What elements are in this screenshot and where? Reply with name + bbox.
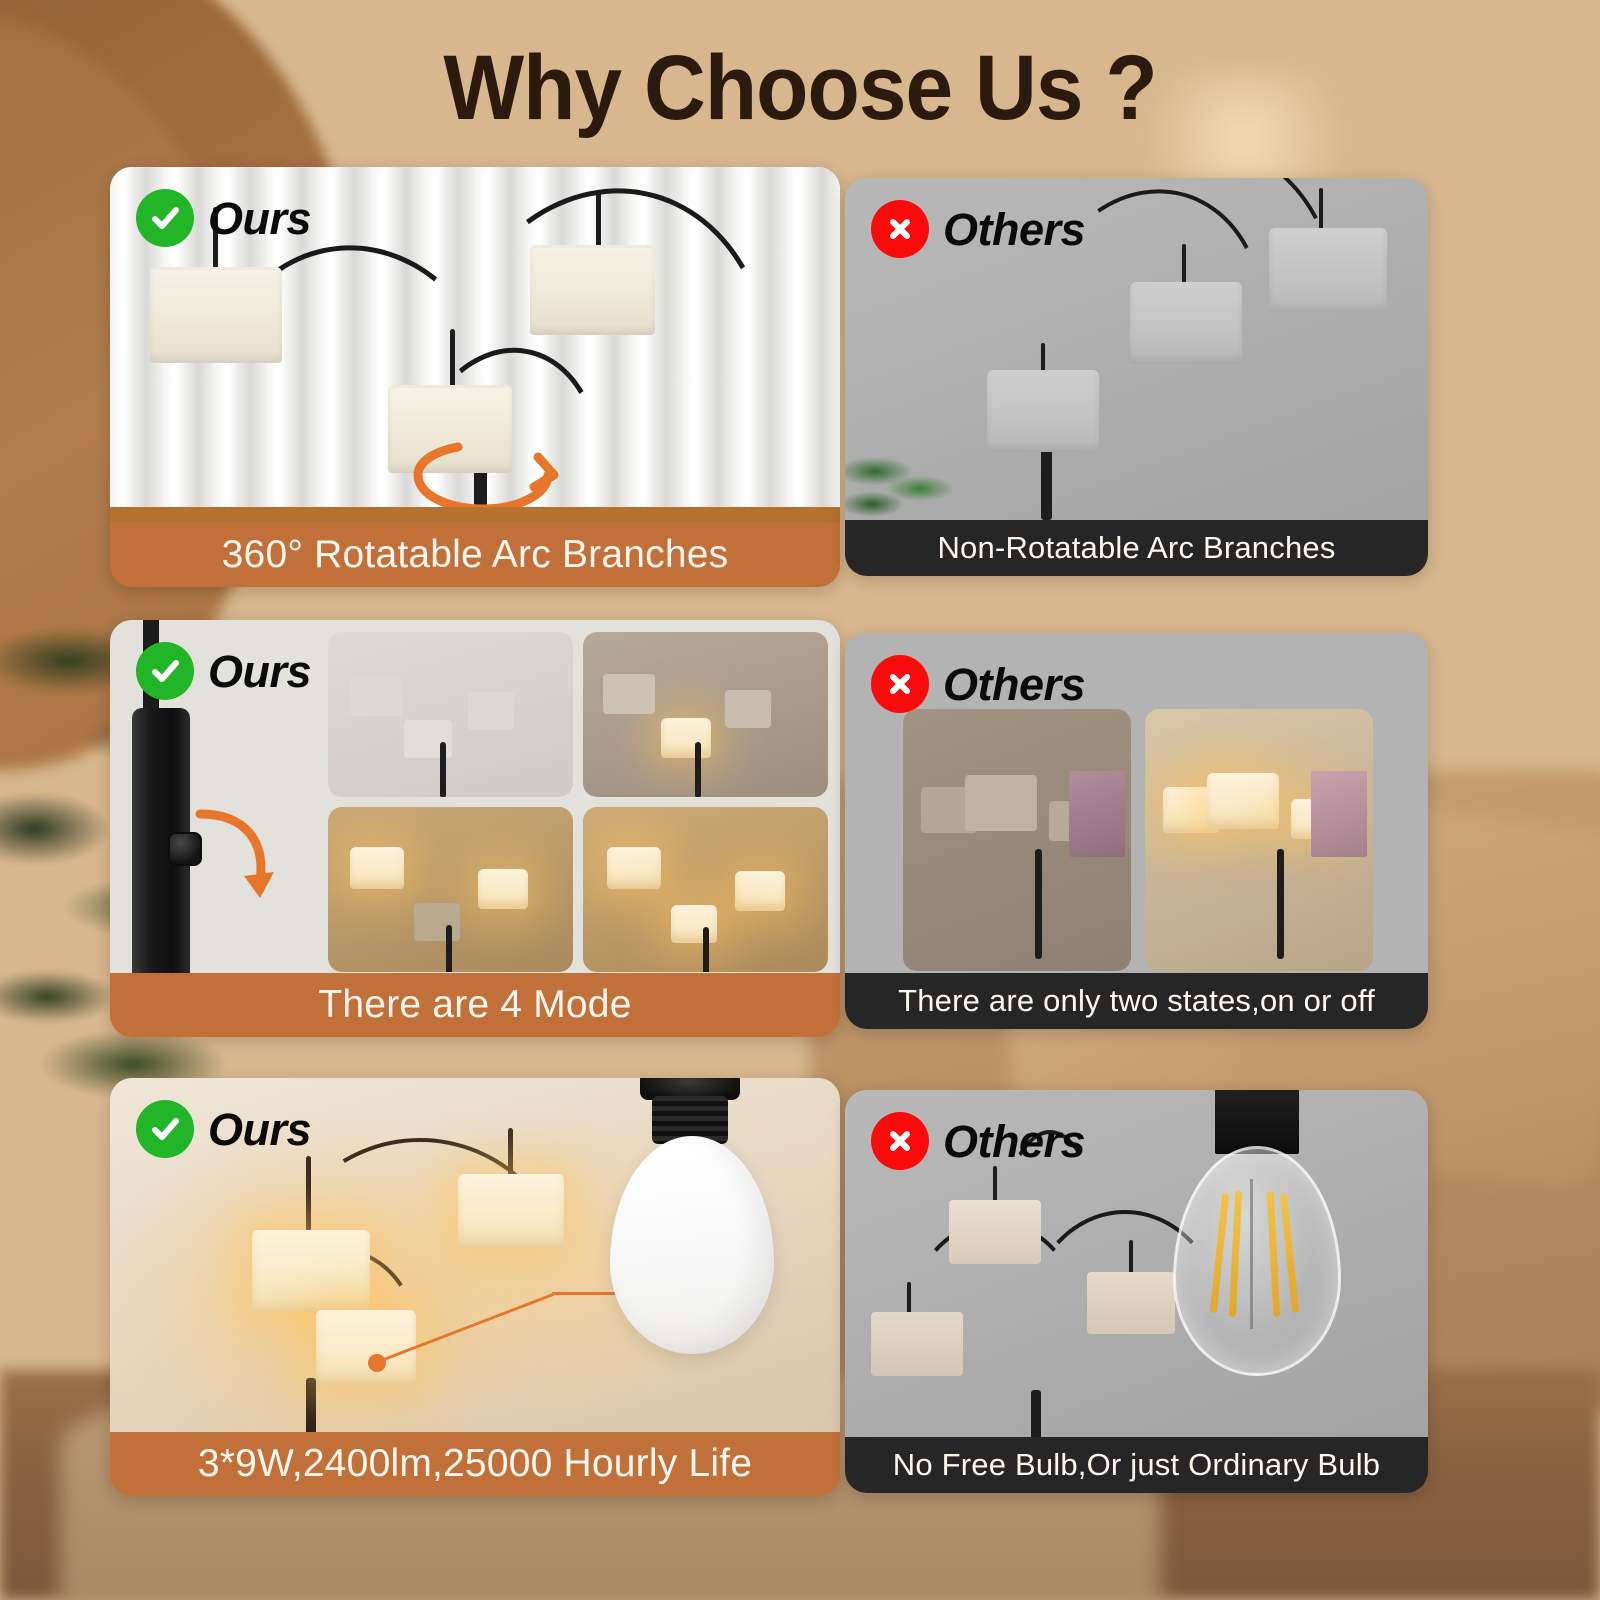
badge-ours-row3: Ours <box>136 1100 311 1158</box>
decorative-plant <box>845 448 973 520</box>
badge-others-row3: Others <box>871 1112 1085 1170</box>
thumb-wall-art <box>1069 771 1125 857</box>
lamp-shade-top <box>1269 228 1387 312</box>
card-image-ours-row3: Ours <box>110 1078 840 1432</box>
curved-arrow-icon <box>194 806 278 916</box>
mode-thumbnail[interactable] <box>583 807 828 972</box>
mode-thumbnail[interactable] <box>583 632 828 797</box>
comparison-grid: Ours 360° Rotatable Arc Branches <box>0 0 1600 1600</box>
mode-thumbnail-grid <box>328 632 828 972</box>
cross-circle-icon <box>871 200 929 258</box>
caption-others-row3: No Free Bulb,Or just Ordinary Bulb <box>845 1437 1428 1493</box>
thumb-shade-lit <box>661 718 711 758</box>
lamp-shade-low <box>987 370 1099 452</box>
lamp-shade-center <box>949 1200 1041 1264</box>
check-circle-icon <box>136 642 194 700</box>
comparison-card-ours-row1[interactable]: Ours 360° Rotatable Arc Branches <box>110 167 840 587</box>
floor-strip <box>110 507 840 523</box>
page-title: Why Choose Us ? <box>56 42 1544 134</box>
comparison-card-ours-row3[interactable]: Ours 3*9W,2400lm,25000 Hourly Life <box>110 1078 840 1496</box>
badge-others-row2: Others <box>871 655 1085 713</box>
thumb-pole <box>695 742 701 797</box>
caption-others-row2: There are only two states,on or off <box>845 973 1428 1029</box>
thumb-shade-b <box>965 775 1037 831</box>
lamp-rod-right <box>596 192 601 247</box>
thumb-pole <box>440 742 446 797</box>
thumb-pole <box>703 927 709 972</box>
card-image-others-row3: Others <box>845 1090 1428 1437</box>
lamp-rod-left <box>306 1156 311 1240</box>
lamp-rod-right <box>508 1128 513 1180</box>
bulb-stem <box>1250 1179 1253 1329</box>
caption-others-row1: Non-Rotatable Arc Branches <box>845 520 1428 576</box>
badge-others-row1: Others <box>871 200 1085 258</box>
bulb-filament <box>1210 1193 1230 1313</box>
badge-label: Ours <box>208 196 311 241</box>
thumb-shade-a <box>603 674 655 714</box>
comparison-card-others-row1[interactable]: Others Non-Rotatable Arc Branches <box>845 178 1428 576</box>
caption-ours-row2: There are 4 Mode <box>110 973 840 1037</box>
badge-label: Ours <box>208 649 311 694</box>
lamp-rod-center <box>450 329 455 389</box>
card-image-ours-row1: Ours <box>110 167 840 523</box>
lamp-shade-right <box>530 245 655 335</box>
card-image-others-row1: Others <box>845 178 1428 520</box>
state-thumbnail[interactable] <box>1145 709 1373 971</box>
comparison-card-ours-row2[interactable]: Ours There are 4 Mode <box>110 620 840 1037</box>
lamp-shade-left <box>871 1312 963 1376</box>
mode-thumbnail[interactable] <box>328 632 573 797</box>
badge-label: Others <box>943 1119 1085 1164</box>
check-circle-icon <box>136 1100 194 1158</box>
comparison-card-others-row3[interactable]: Others No Free Bulb,Or just Ordinary Bul… <box>845 1090 1428 1493</box>
caption-ours-row3: 3*9W,2400lm,25000 Hourly Life <box>110 1432 840 1496</box>
bulb-filament <box>1229 1191 1243 1317</box>
thumb-pole <box>1035 849 1042 959</box>
state-thumbnail-row <box>903 709 1373 971</box>
thumb-shade-lit-b <box>1207 773 1279 829</box>
badge-label: Others <box>943 207 1085 252</box>
thumb-shade-a <box>350 676 402 716</box>
badge-label: Ours <box>208 1107 311 1152</box>
thumb-shade-lit-c <box>735 871 785 911</box>
mode-thumbnail[interactable] <box>328 807 573 972</box>
badge-ours-row1: Ours <box>136 189 311 247</box>
thumb-shade-c <box>468 692 514 730</box>
lamp-shade-center <box>316 1310 416 1384</box>
thumb-shade-lit-b <box>671 905 717 943</box>
cross-circle-icon <box>871 1112 929 1170</box>
bulb-cap <box>1215 1090 1299 1154</box>
thumb-shade-b <box>414 903 460 941</box>
cross-circle-icon <box>871 655 929 713</box>
lamp-shade-left <box>150 267 282 363</box>
bulb-filament <box>1267 1191 1281 1317</box>
thumb-shade-lit-a <box>350 847 404 889</box>
caption-ours-row1: 360° Rotatable Arc Branches <box>110 523 840 587</box>
comparison-card-others-row2[interactable]: Others There are only two states,on or o… <box>845 633 1428 1029</box>
lamp-shade-left <box>252 1230 370 1312</box>
card-image-others-row2: Others <box>845 633 1428 973</box>
bulb-filament <box>1280 1193 1300 1313</box>
thumb-shade-lit-c <box>478 869 528 909</box>
card-image-ours-row2: Ours <box>110 620 840 973</box>
check-circle-icon <box>136 189 194 247</box>
thumb-wall-art <box>1311 771 1367 857</box>
lamp-shade-mid <box>1130 282 1242 364</box>
lamp-shade-right <box>1087 1272 1175 1334</box>
thumb-pole <box>446 925 452 972</box>
thumb-shade-lit-a <box>607 847 661 889</box>
state-thumbnail[interactable] <box>903 709 1131 971</box>
badge-ours-row2: Ours <box>136 642 311 700</box>
badge-label: Others <box>943 662 1085 707</box>
lamp-shade-right <box>458 1174 564 1248</box>
thumb-pole <box>1277 849 1284 959</box>
thumb-shade-c <box>725 690 771 728</box>
